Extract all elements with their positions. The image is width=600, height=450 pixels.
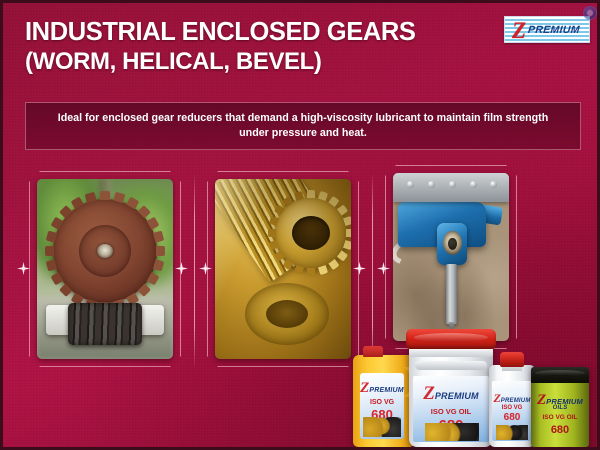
jug-brand-word: PREMIUM (369, 387, 403, 394)
jug-grade-label: ISO VG (360, 399, 404, 406)
brand-wordmark: PREMIUM (527, 24, 580, 36)
bottle-brand-word: PREMIUM (501, 398, 531, 404)
photo-bevel-gear-drive (393, 173, 509, 341)
title-line-2: (WORM, HELICAL, BEVEL) (25, 47, 475, 77)
watermark-badge-core (587, 10, 593, 16)
bottle-brand-mark: Z (493, 391, 500, 405)
bucket-handle-icon (415, 361, 487, 370)
jug-brand-mark: Z (360, 380, 369, 396)
jug-cap-icon (363, 346, 383, 357)
product-bottle: ZPREMIUM ISO VG 680 (489, 365, 535, 447)
bottle-grade-number: 680 (492, 413, 532, 423)
drum-brand-sub: OILS (536, 405, 584, 411)
subtitle-banner: Ideal for enclosed gear reducers that de… (25, 102, 581, 150)
rust-gear-icon (53, 199, 157, 303)
photo-helical-gear (215, 179, 351, 359)
panel-divider-left (194, 173, 195, 369)
product-drum: ZPREMIUM OILS ISO VG OIL 680 (531, 367, 589, 447)
brand-logo: Z PREMIUM (504, 16, 590, 43)
gear-housing-icon (437, 223, 467, 265)
product-lineup: ZPREMIUM ISO VG 680 ZPREMIUM ISO VG OIL … (349, 329, 595, 447)
drum-grade-label: ISO VG OIL (536, 415, 584, 422)
worm-shaft-icon (68, 303, 142, 345)
panel-worm-gear (29, 171, 181, 367)
bottle-gear-artwork-icon (496, 425, 528, 440)
bucket-brand-word: PREMIUM (435, 391, 479, 401)
title-line-1: INDUSTRIAL ENCLOSED GEARS (25, 17, 475, 47)
photo-worm-gear (37, 179, 173, 359)
output-shaft-icon (446, 264, 456, 324)
brand-mark-z: Z (512, 18, 526, 43)
page-title: INDUSTRIAL ENCLOSED GEARS (WORM, HELICAL… (25, 17, 475, 77)
panel-helical-gear (207, 171, 359, 367)
product-jug: ZPREMIUM ISO VG 680 (353, 355, 415, 447)
product-bucket: ZPREMIUM ISO VG OIL 680 (409, 343, 493, 447)
steel-plate-icon (393, 173, 509, 202)
bottle-cap-icon (500, 352, 524, 367)
drum-label: ZPREMIUM OILS ISO VG OIL 680 (536, 391, 584, 439)
bottle-label: ZPREMIUM ISO VG 680 (492, 381, 532, 441)
bucket-lid-icon (406, 329, 496, 349)
drum-top-icon (531, 367, 589, 383)
bucket-brand-mark: Z (423, 383, 435, 404)
bucket-gear-artwork-icon (425, 423, 479, 441)
bucket-label: ZPREMIUM ISO VG OIL 680 (413, 376, 489, 442)
panel-bevel-gear-drive (385, 165, 517, 349)
slide-root: INDUSTRIAL ENCLOSED GEARS (WORM, HELICAL… (0, 0, 600, 450)
drum-grade-number: 680 (536, 425, 584, 436)
subtitle-text: Ideal for enclosed gear reducers that de… (26, 111, 580, 141)
bottle-grade-label: ISO VG (492, 405, 532, 411)
bucket-grade-label: ISO VG OIL (413, 408, 489, 416)
jug-gear-artwork-icon (363, 417, 401, 437)
jug-label: ZPREMIUM ISO VG 680 (360, 373, 404, 439)
watermark-badge-icon (583, 6, 597, 20)
slide-header: INDUSTRIAL ENCLOSED GEARS (WORM, HELICAL… (3, 3, 600, 95)
